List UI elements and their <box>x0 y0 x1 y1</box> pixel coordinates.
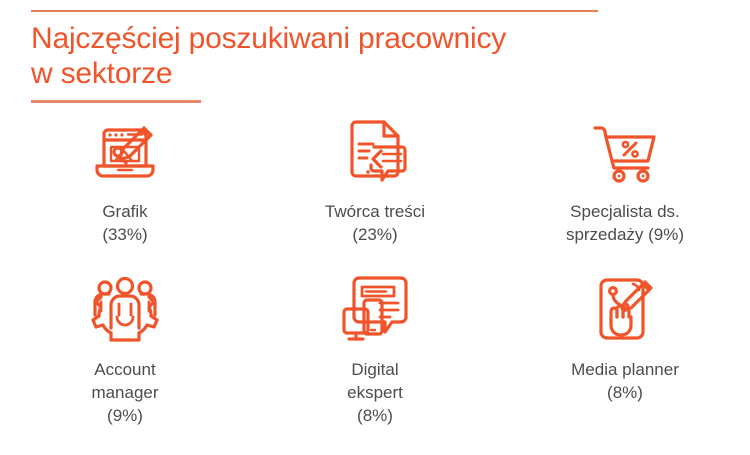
shopping-cart-percent-icon <box>587 112 663 190</box>
people-gear-icon <box>86 270 164 348</box>
laptop-design-pencil-icon <box>87 112 163 190</box>
header-rule-bottom <box>31 100 201 103</box>
grid-item-label: Media planner (8%) <box>571 358 679 404</box>
document-speech-bubble-icon <box>338 112 412 190</box>
grid-item-label: Grafik (33%) <box>102 200 147 246</box>
grid-item-label: Twórca treści (23%) <box>325 200 425 246</box>
grid-item-label: Specjalista ds. sprzedaży (9%) <box>566 200 684 246</box>
grid-item-specjalista-sprzedazy: Specjalista ds. sprzedaży (9%) <box>500 112 750 270</box>
devices-screens-icon <box>336 270 414 348</box>
page-title: Najczęściej poszukiwani pracownicy w sek… <box>31 12 621 91</box>
grid-item-account-manager: Account manager (9%) <box>0 270 250 428</box>
grid-item-media-planner: Media planner (8%) <box>500 270 750 428</box>
grid-item-label: Account manager (9%) <box>91 358 158 427</box>
grid-item-tworca-tresci: Twórca treści (23%) <box>250 112 500 270</box>
profession-grid: Grafik (33%) Twórca treści <box>0 112 750 428</box>
grid-item-grafik: Grafik (33%) <box>0 112 250 270</box>
grid-item-digital-ekspert: Digital ekspert (8%) <box>250 270 500 428</box>
page-header: Najczęściej poszukiwani pracownicy w sek… <box>31 10 621 103</box>
clipboard-hand-pencil-icon <box>589 270 661 348</box>
grid-item-label: Digital ekspert (8%) <box>347 358 403 427</box>
